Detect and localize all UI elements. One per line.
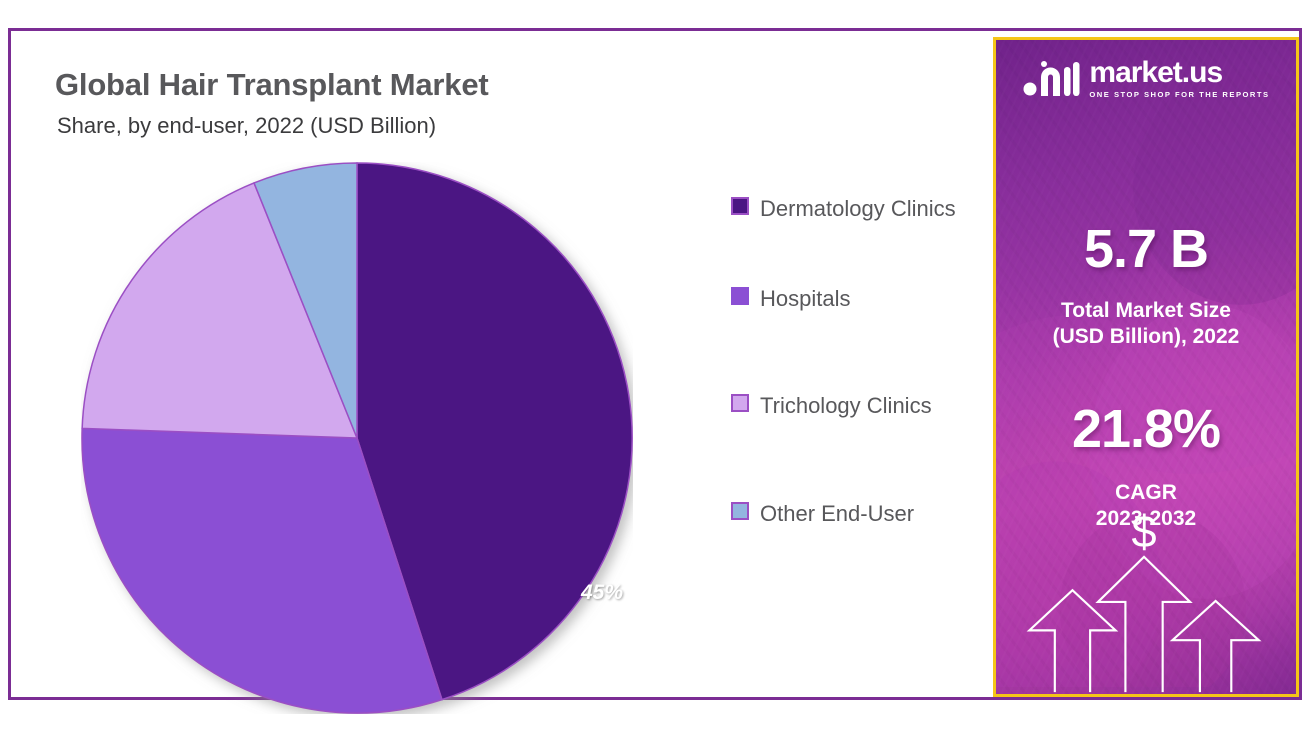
infographic-frame: Global Hair Transplant Market Share, by …	[8, 28, 1302, 700]
market-size-caption-line2: (USD Billion), 2022	[996, 324, 1296, 350]
legend-swatch-other-end-user	[731, 502, 749, 520]
market-size-value: 5.7 B	[996, 218, 1296, 280]
dollar-sign-icon: $	[1132, 506, 1157, 557]
cagr-caption-line1: CAGR	[996, 480, 1296, 506]
pie-chart: 45%	[81, 162, 633, 714]
page-subtitle: Share, by end-user, 2022 (USD Billion)	[57, 113, 436, 139]
pie-slices	[82, 163, 632, 713]
legend: Dermatology Clinics Hospitals Trichology…	[731, 191, 981, 531]
chart-panel: Global Hair Transplant Market Share, by …	[11, 31, 985, 697]
logo-text: market.us ONE STOP SHOP FOR THE REPORTS	[1089, 58, 1269, 99]
legend-swatch-trichology-clinics	[731, 394, 749, 412]
stats-panel: market.us ONE STOP SHOP FOR THE REPORTS …	[993, 37, 1299, 697]
legend-swatch-dermatology-clinics	[731, 197, 749, 215]
logo-wordmark: market.us	[1089, 58, 1269, 88]
legend-label-trichology-clinics: Trichology Clinics	[760, 388, 932, 423]
market-size-caption-line1: Total Market Size	[996, 298, 1296, 324]
legend-item-dermatology-clinics[interactable]: Dermatology Clinics	[731, 191, 981, 226]
legend-label-dermatology-clinics: Dermatology Clinics	[760, 191, 956, 226]
cagr-value: 21.8%	[996, 398, 1296, 460]
legend-item-hospitals[interactable]: Hospitals	[731, 281, 981, 316]
arrow-center-icon	[1098, 557, 1190, 692]
legend-label-other-end-user: Other End-User	[760, 496, 914, 531]
legend-swatch-hospitals	[731, 287, 749, 305]
pie-chart-svg	[81, 162, 633, 714]
arrow-left-icon	[1029, 590, 1115, 692]
page-title: Global Hair Transplant Market	[55, 67, 488, 103]
legend-item-trichology-clinics[interactable]: Trichology Clinics	[731, 388, 981, 423]
legend-item-other-end-user[interactable]: Other End-User	[731, 496, 981, 531]
logo[interactable]: market.us ONE STOP SHOP FOR THE REPORTS	[996, 58, 1296, 99]
market-size-caption: Total Market Size (USD Billion), 2022	[996, 298, 1296, 349]
growth-arrows-icon: $	[996, 504, 1296, 694]
arrow-right-icon	[1172, 601, 1258, 692]
market-us-logo-icon	[1022, 58, 1080, 98]
pie-data-label-dermatology: 45%	[581, 581, 623, 605]
logo-tagline: ONE STOP SHOP FOR THE REPORTS	[1089, 91, 1269, 99]
legend-label-hospitals: Hospitals	[760, 281, 850, 316]
